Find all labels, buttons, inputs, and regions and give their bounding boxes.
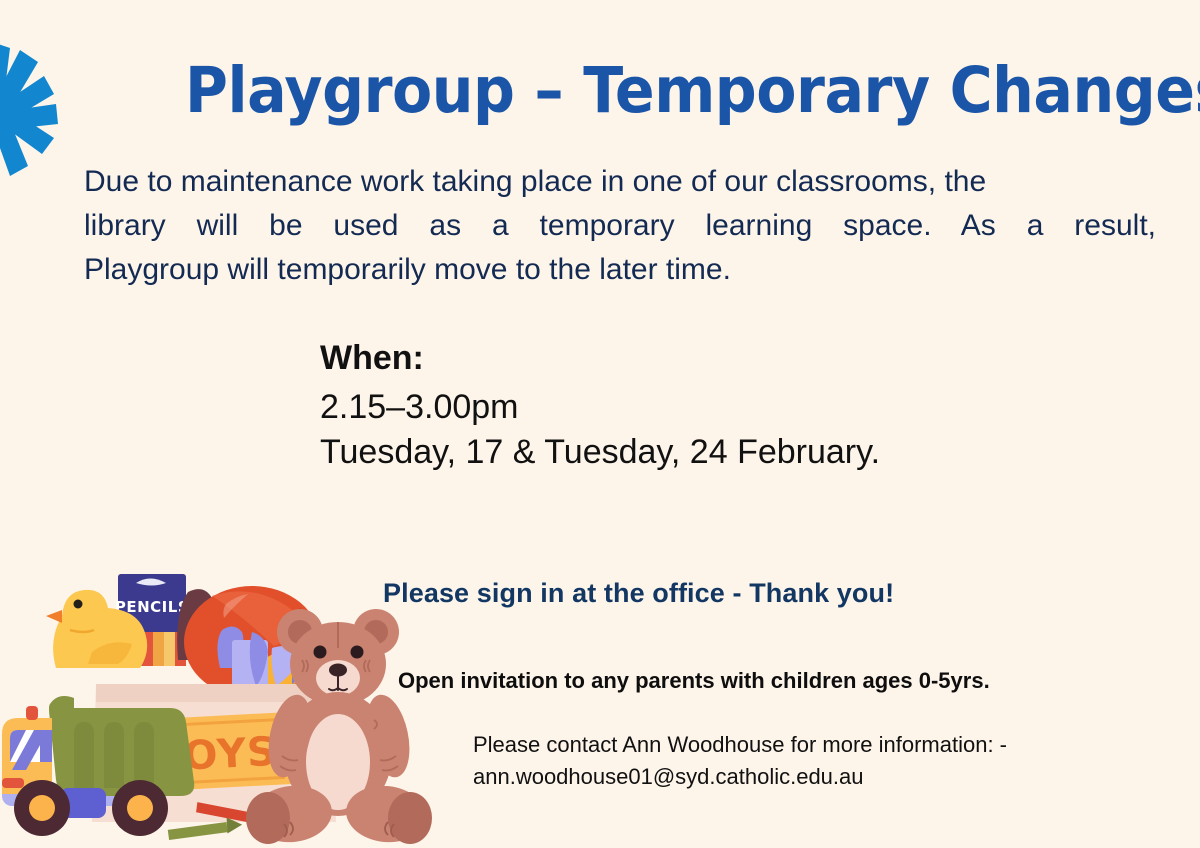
poster-canvas: Playgroup – Temporary Changes Due to mai… bbox=[0, 0, 1200, 848]
starburst-icon bbox=[0, 42, 78, 182]
intro-paragraph: Due to maintenance work taking place in … bbox=[84, 160, 1156, 292]
toys-illustration: PENCILS bbox=[0, 556, 440, 848]
contact-line: Please contact Ann Woodhouse for more in… bbox=[473, 729, 1173, 761]
when-time: 2.15–3.00pm bbox=[320, 385, 1120, 429]
intro-line-1: Due to maintenance work taking place in … bbox=[84, 160, 1156, 204]
contact-block: Please contact Ann Woodhouse for more in… bbox=[473, 729, 1173, 793]
contact-email: ann.woodhouse01@syd.catholic.edu.au bbox=[473, 761, 1173, 793]
page-title: Playgroup – Temporary Changes bbox=[185, 58, 1115, 124]
sign-in-notice: Please sign in at the office - Thank you… bbox=[383, 578, 1143, 609]
when-dates: Tuesday, 17 & Tuesday, 24 February. bbox=[320, 430, 1120, 474]
intro-line-3: Playgroup will temporarily move to the l… bbox=[84, 248, 1156, 292]
dump-truck-icon bbox=[2, 696, 194, 836]
open-invitation-text: Open invitation to any parents with chil… bbox=[398, 668, 1158, 694]
intro-line-2: library will be used as a temporary lear… bbox=[84, 204, 1156, 248]
when-block: When: 2.15–3.00pm Tuesday, 17 & Tuesday,… bbox=[320, 338, 1120, 474]
when-label: When: bbox=[320, 338, 1120, 379]
